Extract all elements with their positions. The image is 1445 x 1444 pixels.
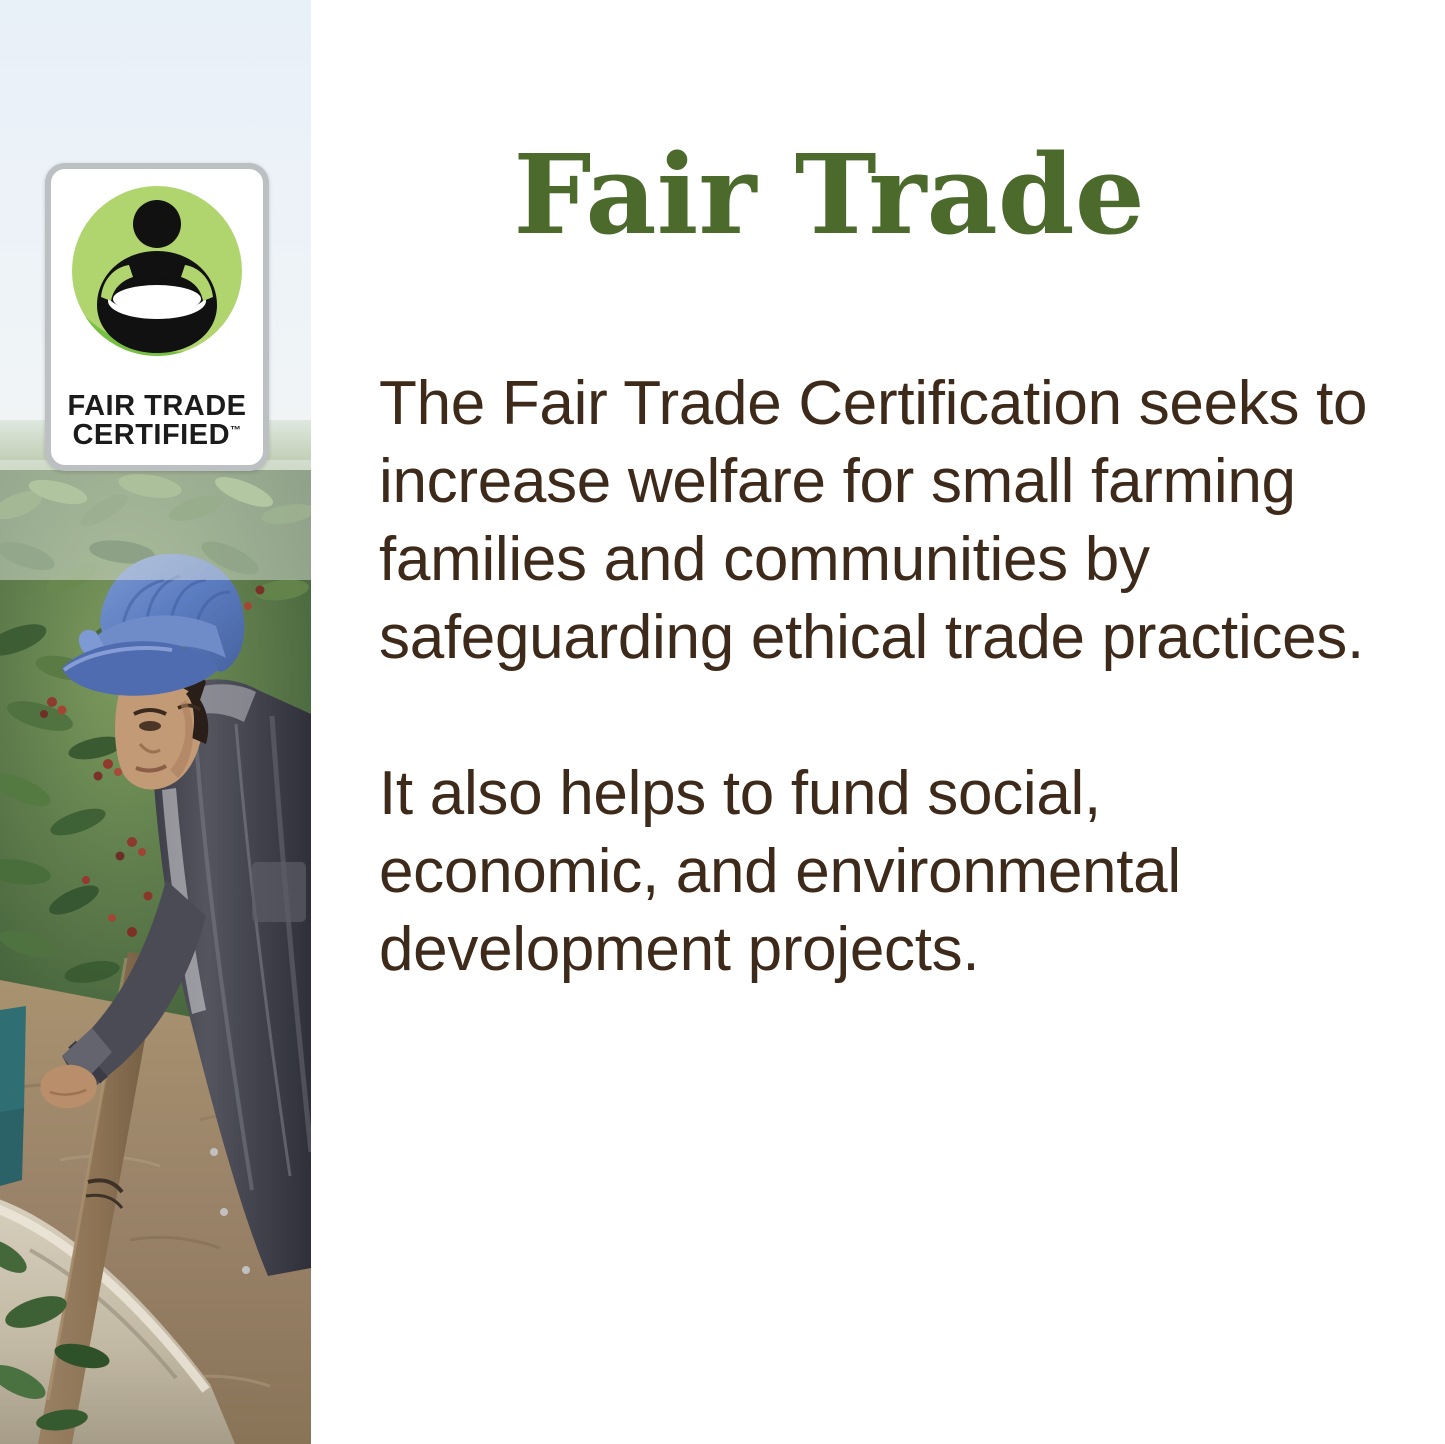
badge-line-2: CERTIFIED™ bbox=[51, 421, 263, 451]
farmer-photo-strip: FAIR TRADE CERTIFIED™ bbox=[0, 0, 311, 1444]
badge-line-2-text: CERTIFIED bbox=[72, 419, 230, 451]
fair-trade-info-card: FAIR TRADE CERTIFIED™ Fair Trade The Fai… bbox=[0, 0, 1445, 1444]
page-title: Fair Trade bbox=[311, 140, 1347, 250]
paragraph-2: It also helps to fund social, economic, … bbox=[379, 755, 1384, 989]
badge-line-1: FAIR TRADE bbox=[51, 392, 263, 422]
fair-trade-person-bowl-icon bbox=[67, 181, 247, 361]
badge-wordmark: FAIR TRADE CERTIFIED™ bbox=[51, 392, 263, 451]
content-panel: Fair Trade The Fair Trade Certification … bbox=[311, 0, 1445, 1444]
paragraph-1: The Fair Trade Certification seeks to in… bbox=[379, 365, 1384, 677]
trademark-symbol: ™ bbox=[230, 425, 242, 437]
body-copy: The Fair Trade Certification seeks to in… bbox=[379, 365, 1384, 989]
fair-trade-certified-badge: FAIR TRADE CERTIFIED™ bbox=[45, 163, 269, 471]
